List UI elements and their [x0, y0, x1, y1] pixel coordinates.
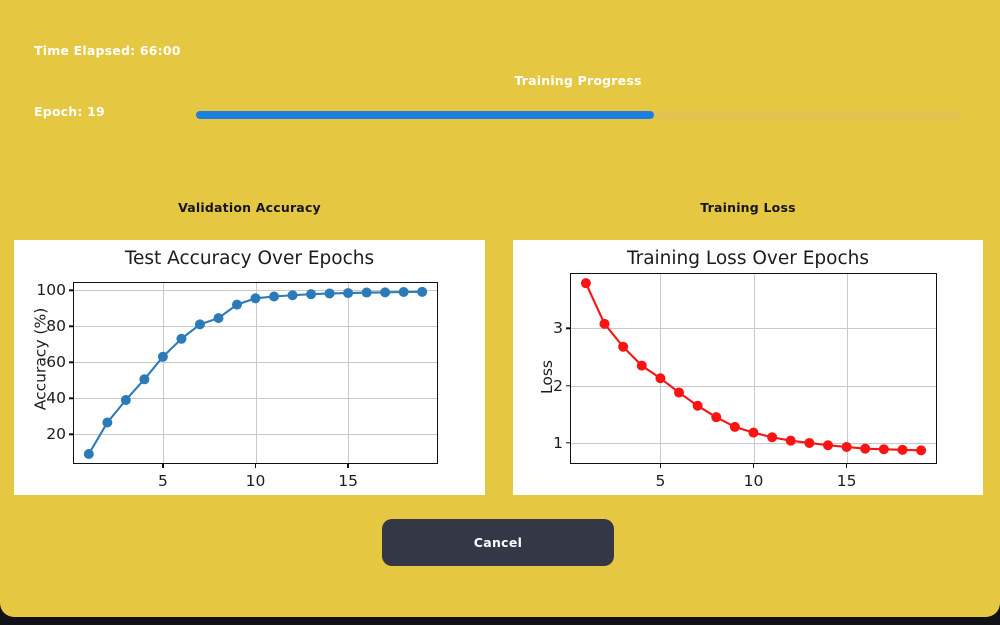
- accuracy-chart-card: Test Accuracy Over Epochs Accuracy (%) 2…: [14, 240, 485, 495]
- loss-point-9: [730, 422, 740, 432]
- time-elapsed-label: Time Elapsed: 66:00: [34, 43, 181, 58]
- x-tick-label-5: 5: [655, 472, 665, 490]
- loss-point-15: [842, 442, 852, 452]
- loss-point-4: [637, 361, 647, 371]
- accuracy-point-17: [380, 287, 390, 297]
- accuracy-point-7: [195, 319, 205, 329]
- training-progress-fill: [196, 111, 654, 119]
- loss-point-19: [916, 445, 926, 455]
- x-tick-label-10: 10: [744, 472, 764, 490]
- loss-point-5: [655, 373, 665, 383]
- y-tick-label-2: 2: [553, 377, 563, 395]
- loss-point-17: [879, 444, 889, 454]
- cancel-button[interactable]: Cancel: [382, 519, 614, 566]
- training-loss-caption: Training Loss: [513, 200, 983, 215]
- y-tick-label-80: 80: [46, 317, 66, 335]
- accuracy-point-11: [269, 292, 279, 302]
- accuracy-point-12: [288, 290, 298, 300]
- accuracy-point-8: [213, 313, 223, 323]
- loss-point-8: [711, 412, 721, 422]
- accuracy-point-4: [139, 374, 149, 384]
- accuracy-point-10: [251, 293, 261, 303]
- loss-chart-card: Training Loss Over Epochs Loss 12351015: [513, 240, 983, 495]
- loss-point-13: [804, 438, 814, 448]
- x-tick-mark: [660, 463, 661, 468]
- loss-series: [571, 274, 936, 463]
- loss-point-7: [693, 401, 703, 411]
- y-tick-label-60: 60: [46, 353, 66, 371]
- training-progress-dialog: Time Elapsed: 66:00 Training Progress Ep…: [0, 0, 1000, 617]
- accuracy-point-13: [306, 289, 316, 299]
- accuracy-point-2: [102, 418, 112, 428]
- accuracy-line: [89, 292, 422, 454]
- loss-plot-area: 12351015: [570, 273, 937, 464]
- accuracy-plot-area: 2040608010051015: [73, 282, 438, 464]
- progress-title: Training Progress: [196, 73, 960, 88]
- accuracy-point-15: [343, 288, 353, 298]
- y-tick-label-40: 40: [46, 389, 66, 407]
- accuracy-point-9: [232, 300, 242, 310]
- validation-accuracy-caption: Validation Accuracy: [14, 200, 485, 215]
- accuracy-point-16: [362, 288, 372, 298]
- loss-point-11: [767, 432, 777, 442]
- loss-point-14: [823, 440, 833, 450]
- accuracy-point-5: [158, 352, 168, 362]
- loss-line: [586, 283, 921, 450]
- x-tick-mark: [846, 463, 847, 468]
- accuracy-series: [74, 283, 437, 463]
- y-tick-label-100: 100: [36, 281, 66, 299]
- training-progress-bar: [196, 111, 960, 119]
- x-tick-mark: [347, 463, 348, 468]
- x-tick-label-15: 15: [338, 472, 358, 490]
- y-tick-label-3: 3: [553, 319, 563, 337]
- loss-point-1: [581, 278, 591, 288]
- loss-point-16: [860, 444, 870, 454]
- y-tick-label-1: 1: [553, 434, 563, 452]
- accuracy-point-18: [399, 287, 409, 297]
- x-tick-label-15: 15: [837, 472, 857, 490]
- accuracy-point-14: [325, 288, 335, 298]
- accuracy-chart-title: Test Accuracy Over Epochs: [14, 248, 485, 269]
- loss-point-12: [786, 436, 796, 446]
- loss-point-3: [618, 342, 628, 352]
- loss-point-6: [674, 388, 684, 398]
- x-tick-mark: [255, 463, 256, 468]
- x-tick-mark: [753, 463, 754, 468]
- epoch-label: Epoch: 19: [34, 104, 105, 119]
- loss-point-10: [749, 428, 759, 438]
- accuracy-point-3: [121, 395, 131, 405]
- loss-point-18: [897, 445, 907, 455]
- loss-chart-title: Training Loss Over Epochs: [513, 248, 983, 269]
- loss-point-2: [600, 319, 610, 329]
- x-tick-mark: [162, 463, 163, 468]
- accuracy-point-19: [417, 287, 427, 297]
- y-tick-label-20: 20: [46, 425, 66, 443]
- x-tick-label-5: 5: [158, 472, 168, 490]
- x-tick-label-10: 10: [246, 472, 266, 490]
- accuracy-point-6: [176, 334, 186, 344]
- accuracy-point-1: [84, 449, 94, 459]
